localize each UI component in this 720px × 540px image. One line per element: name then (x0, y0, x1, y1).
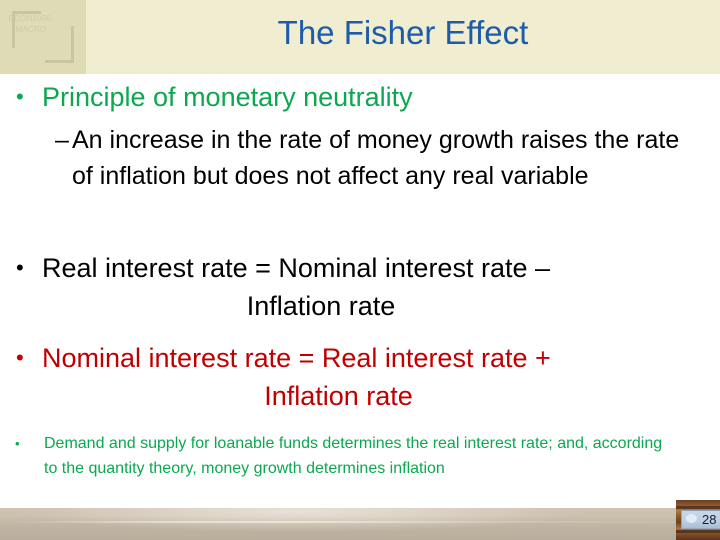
bullet-glyph-icon: • (16, 80, 24, 114)
slide-body: • Principle of monetary neutrality – An … (0, 74, 720, 508)
equation-line-2: Inflation rate (42, 287, 710, 325)
logo-text: ECON1050: MACRO (0, 13, 62, 35)
thumbnail-glass-panel: 28 (681, 510, 720, 529)
bullet-glyph-icon: • (16, 249, 24, 287)
thumbnail-shelf-top (676, 506, 720, 509)
course-logo: ECON1050: MACRO (0, 0, 86, 74)
footer-photo-strip (0, 508, 720, 540)
dash-glyph-icon: – (55, 122, 69, 158)
bullet-text-nominal-interest-rate: Nominal interest rate = Real interest ra… (42, 339, 710, 415)
bullet-text-monetary-neutrality: Principle of monetary neutrality (42, 80, 710, 114)
equation-line-2: Inflation rate (42, 377, 710, 415)
page-number-label: 28 (702, 512, 716, 527)
page-number-thumbnail: 28 (676, 500, 720, 540)
thumbnail-shelf-bottom (676, 530, 720, 533)
logo-course-code: ECON1050: (0, 13, 62, 24)
bullet-glyph-icon: • (16, 339, 24, 377)
bullet-glyph-icon: • (15, 431, 20, 456)
slide-canvas: ECON1050: MACRO The Fisher Effect • Prin… (0, 0, 720, 540)
sub-bullet-text-money-growth: An increase in the rate of money growth … (72, 122, 704, 194)
title-band: ECON1050: MACRO The Fisher Effect (0, 0, 720, 74)
bullet-text-real-interest-rate: Real interest rate = Nominal interest ra… (42, 249, 710, 325)
equation-line-1: Nominal interest rate = Real interest ra… (42, 343, 551, 373)
footer-strip-highlight (0, 508, 720, 540)
equation-line-1: Real interest rate = Nominal interest ra… (42, 253, 550, 283)
page-title: The Fisher Effect (86, 13, 720, 53)
thumbnail-light-dot-icon (686, 514, 697, 523)
bullet-text-loanable-funds-note: Demand and supply for loanable funds det… (44, 431, 674, 481)
footer-strip-seam (0, 521, 720, 523)
logo-course-name: MACRO (0, 24, 62, 35)
